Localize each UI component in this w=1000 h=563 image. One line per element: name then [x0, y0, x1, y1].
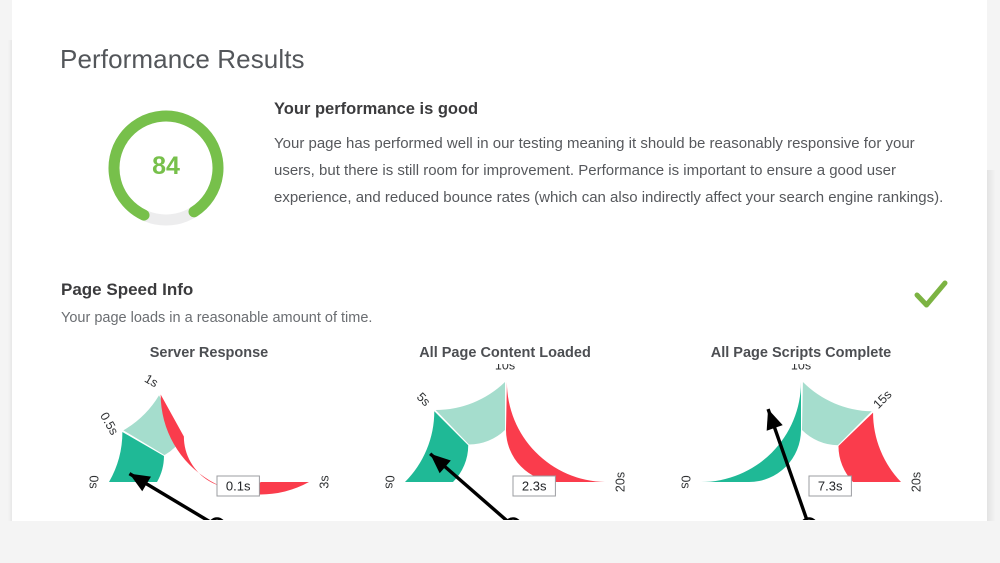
summary-heading: Your performance is good	[274, 100, 954, 119]
gauge-needle-pivot	[802, 519, 817, 521]
check-icon	[914, 278, 948, 312]
page-speed-info-heading: Page Speed Info	[61, 280, 193, 300]
gauge-tick-label: 0s	[679, 475, 693, 488]
gauge-band	[701, 382, 801, 482]
gauge-tick-label: 15s	[870, 387, 894, 411]
performance-results-page: Performance Results 84 Your performance …	[0, 0, 1000, 563]
gauge-tick-label: 10s	[791, 364, 811, 372]
gauge-title: Server Response	[61, 345, 357, 361]
summary-block: Your performance is good Your page has p…	[274, 100, 954, 211]
performance-score-gauge: 84	[105, 102, 227, 234]
gauge-tick-label: 0s	[87, 475, 101, 488]
gauge-tick-label: 20s	[909, 472, 923, 492]
gauge-all-page-scripts-complete: All Page Scripts Complete 0s10s15s20s7.3…	[653, 340, 949, 520]
gauge-all-page-content-loaded: All Page Content Loaded 0s5s10s20s2.3s	[357, 340, 653, 520]
gauge-chart: 0s0.5s1s3s0.1s	[61, 364, 357, 520]
gauge-needle-pivot	[210, 519, 225, 521]
score-value: 84	[105, 102, 227, 234]
gauge-needle-head	[129, 474, 151, 492]
gauge-tick-label: 1s	[142, 372, 160, 391]
gauge-chart: 0s10s15s20s7.3s	[653, 364, 949, 520]
gauge-chart: 0s5s10s20s2.3s	[357, 364, 653, 520]
gauge-tick-label: 20s	[613, 472, 627, 492]
gauge-row: Server Response 0s0.5s1s3s0.1s All Page …	[61, 340, 951, 520]
summary-body: Your page has performed well in our test…	[274, 130, 954, 211]
gauge-tick-label: 0.5s	[97, 410, 121, 437]
gauge-title: All Page Content Loaded	[357, 345, 653, 361]
gauge-value-label: 0.1s	[226, 478, 251, 493]
gauge-needle-pivot	[506, 519, 521, 521]
gauge-band	[506, 382, 605, 482]
card-left-edge	[8, 40, 12, 521]
gauge-tick-label: 10s	[495, 364, 515, 372]
gauge-value-label: 7.3s	[818, 478, 843, 493]
gauge-needle-head	[767, 409, 783, 431]
gauge-title: All Page Scripts Complete	[653, 345, 949, 361]
gauge-server-response: Server Response 0s0.5s1s3s0.1s	[61, 340, 357, 520]
page-title: Performance Results	[60, 44, 305, 75]
card-right-shadow	[987, 170, 996, 521]
gauge-value-label: 2.3s	[522, 478, 547, 493]
gauge-tick-label: 3s	[317, 475, 331, 488]
gauge-tick-label: 5s	[414, 390, 433, 409]
gauge-tick-label: 0s	[383, 475, 397, 488]
page-speed-info-subtitle: Your page loads in a reasonable amount o…	[61, 310, 372, 326]
